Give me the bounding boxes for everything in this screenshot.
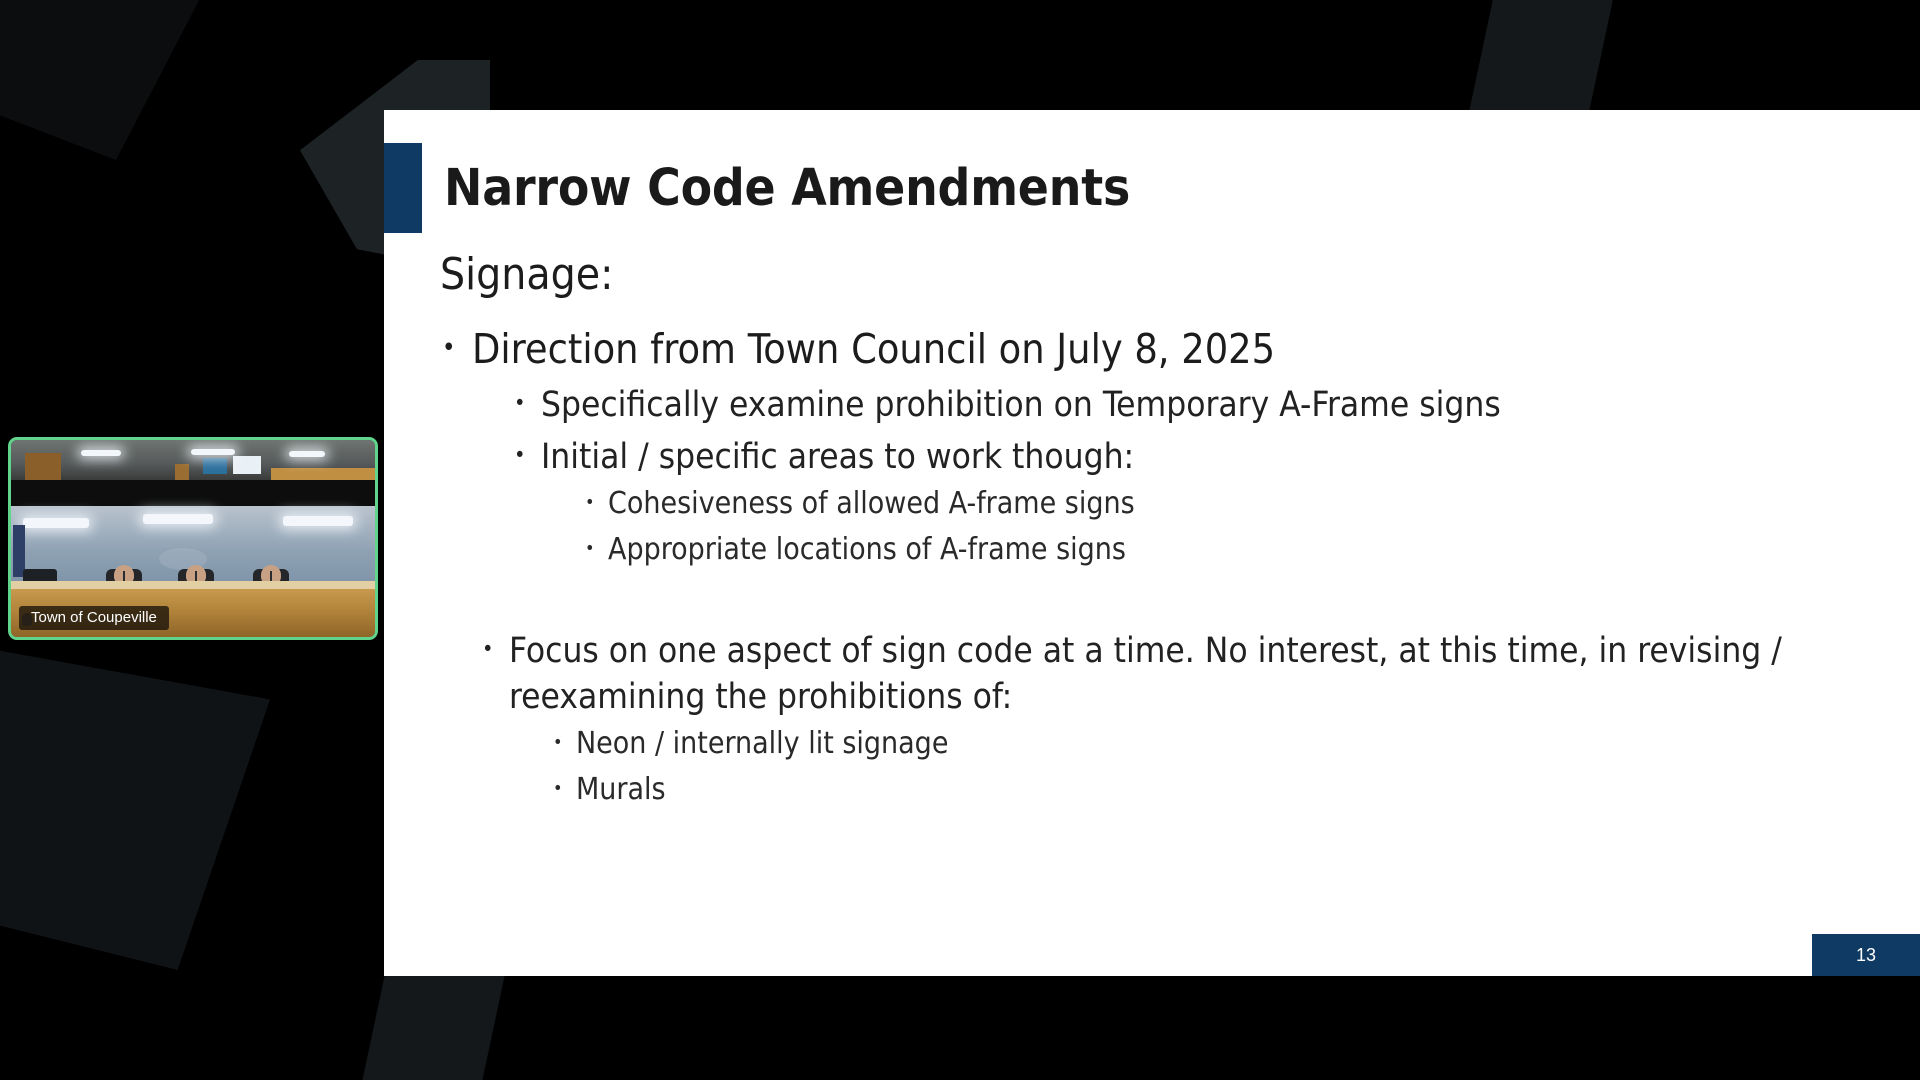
bullet-dot-icon: • <box>482 628 494 672</box>
video-scene-divider <box>11 480 375 506</box>
list-item-text: Initial / specific areas to work though: <box>541 437 1134 477</box>
participant-video-tile[interactable]: Town of Coupeville <box>8 437 378 640</box>
list-item-text: Specifically examine prohibition on Temp… <box>541 385 1501 425</box>
background-decor-wedge-lower-left <box>0 640 270 970</box>
video-scene-display-left <box>203 458 227 474</box>
list-item: • Appropriate locations of A-frame signs <box>583 530 1872 570</box>
bullet-block-spacer <box>440 576 1872 622</box>
bullet-dot-icon: • <box>442 323 456 373</box>
list-item: • Focus on one aspect of sign code at a … <box>480 628 1872 810</box>
list-item-text: Neon / internally lit signage <box>576 726 948 761</box>
video-scene-cabinet <box>25 453 61 480</box>
bullet-list-level-2: • Specifically examine prohibition on Te… <box>512 382 1872 570</box>
list-item: • Initial / specific areas to work thoug… <box>512 434 1872 570</box>
background-decor-wedge-upper-left <box>0 0 220 160</box>
slide-title-row: Narrow Code Amendments <box>384 143 1130 233</box>
list-item: • Direction from Town Council on July 8,… <box>440 323 1872 570</box>
video-scene-light <box>283 516 353 526</box>
bullet-dot-icon: • <box>553 724 563 762</box>
list-item: • Specifically examine prohibition on Te… <box>512 382 1872 428</box>
bullet-dot-icon: • <box>585 530 595 568</box>
list-item: • Neon / internally lit signage <box>551 724 1872 764</box>
bullet-list-level-1: • Direction from Town Council on July 8,… <box>440 323 1872 570</box>
bullet-list-second-block: • Focus on one aspect of sign code at a … <box>480 628 1872 810</box>
video-scene-podium <box>175 464 189 481</box>
list-item-text: Focus on one aspect of sign code at a ti… <box>509 631 1782 717</box>
presentation-slide[interactable]: Narrow Code Amendments Signage: • Direct… <box>384 110 1920 976</box>
bullet-dot-icon: • <box>514 434 526 478</box>
bullet-dot-icon: • <box>585 484 595 522</box>
list-item-text: Murals <box>576 772 666 807</box>
background-decor-stripe-bottom <box>359 975 505 1080</box>
participant-name-label: Town of Coupeville <box>19 606 169 630</box>
video-scene-light <box>81 450 121 456</box>
video-scene-light <box>143 514 213 524</box>
video-scene-light <box>23 518 89 528</box>
video-scene-light <box>289 451 325 457</box>
list-item-text: Direction from Town Council on July 8, 2… <box>472 325 1275 373</box>
slide-number-badge: 13 <box>1812 934 1920 976</box>
list-item: • Murals <box>551 770 1872 810</box>
list-item-text: Appropriate locations of A-frame signs <box>608 532 1126 567</box>
list-item: • Cohesiveness of allowed A-frame signs <box>583 484 1872 524</box>
video-scene-display-right <box>233 456 261 474</box>
video-scene-dais-edge <box>11 581 375 589</box>
background-decor-stripe-top <box>1469 0 1615 112</box>
section-heading: Signage: <box>440 250 1872 301</box>
bullet-list-level-3: • Neon / internally lit signage • Murals <box>551 724 1872 810</box>
bullet-list-level-3: • Cohesiveness of allowed A-frame signs … <box>583 484 1872 570</box>
list-item-text: Cohesiveness of allowed A-frame signs <box>608 486 1135 521</box>
page-title: Narrow Code Amendments <box>444 159 1130 218</box>
bullet-dot-icon: • <box>514 382 526 426</box>
slide-body: Signage: • Direction from Town Council o… <box>440 250 1872 816</box>
video-scene-light <box>191 449 235 455</box>
bullet-dot-icon: • <box>553 770 563 808</box>
title-accent-bar <box>384 143 422 233</box>
